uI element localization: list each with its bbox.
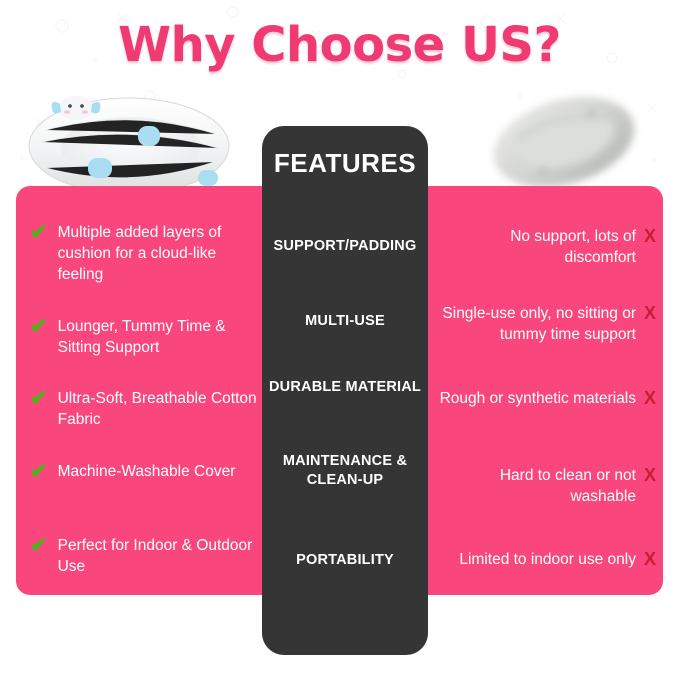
check-icon: ✔ — [30, 535, 48, 556]
feature-label-multi-use: MULTI-USE — [266, 312, 424, 331]
pro-item: ✔ Machine-Washable Cover — [30, 461, 260, 482]
con-item-text: Limited to indoor use only — [459, 549, 644, 570]
feature-label-support-padding: SUPPORT/PADDING — [266, 237, 424, 256]
cross-icon: X — [644, 303, 656, 324]
con-item-text: Single-use only, no sitting or tummy tim… — [438, 303, 644, 345]
product-image-right — [478, 86, 650, 198]
cross-icon: X — [644, 226, 656, 247]
check-icon: ✔ — [30, 222, 48, 243]
feature-label-maintenance-cleanup: MAINTENANCE & CLEAN-UP — [266, 452, 424, 490]
pro-item-text: Perfect for Indoor & Outdoor Use — [48, 535, 260, 577]
check-icon: ✔ — [30, 388, 48, 409]
pro-item-text: Ultra-Soft, Breathable Cotton Fabric — [48, 388, 260, 430]
cross-icon: X — [644, 388, 656, 409]
cross-icon: X — [644, 465, 656, 486]
check-icon: ✔ — [30, 461, 48, 482]
cross-icon: X — [644, 549, 656, 570]
features-heading: FEATURES — [262, 148, 428, 179]
con-item: Single-use only, no sitting or tummy tim… — [438, 303, 656, 345]
check-icon: ✔ — [30, 316, 48, 337]
pro-item: ✔ Lounger, Tummy Time & Sitting Support — [30, 316, 260, 358]
features-column: FEATURES SUPPORT/PADDING MULTI-USE DURAB… — [262, 126, 428, 655]
con-item-text: Rough or synthetic materials — [440, 388, 644, 409]
pro-item: ✔ Perfect for Indoor & Outdoor Use — [30, 535, 260, 577]
con-item-text: No support, lots of discomfort — [438, 226, 644, 268]
con-item: Limited to indoor use only X — [438, 549, 656, 570]
pro-item-text: Lounger, Tummy Time & Sitting Support — [48, 316, 260, 358]
con-item: Hard to clean or not washable X — [438, 465, 656, 507]
pro-item: ✔ Ultra-Soft, Breathable Cotton Fabric — [30, 388, 260, 430]
feature-label-durable-material: DURABLE MATERIAL — [266, 378, 424, 397]
product-image-left — [22, 84, 236, 202]
con-item: Rough or synthetic materials X — [438, 388, 656, 409]
con-item-text: Hard to clean or not washable — [438, 465, 644, 507]
page-title: Why Choose US? — [0, 16, 679, 74]
pro-item: ✔ Multiple added layers of cushion for a… — [30, 222, 260, 285]
pro-item-text: Machine-Washable Cover — [48, 461, 236, 482]
con-item: No support, lots of discomfort X — [438, 226, 656, 268]
feature-label-portability: PORTABILITY — [266, 551, 424, 570]
pro-item-text: Multiple added layers of cushion for a c… — [48, 222, 260, 285]
